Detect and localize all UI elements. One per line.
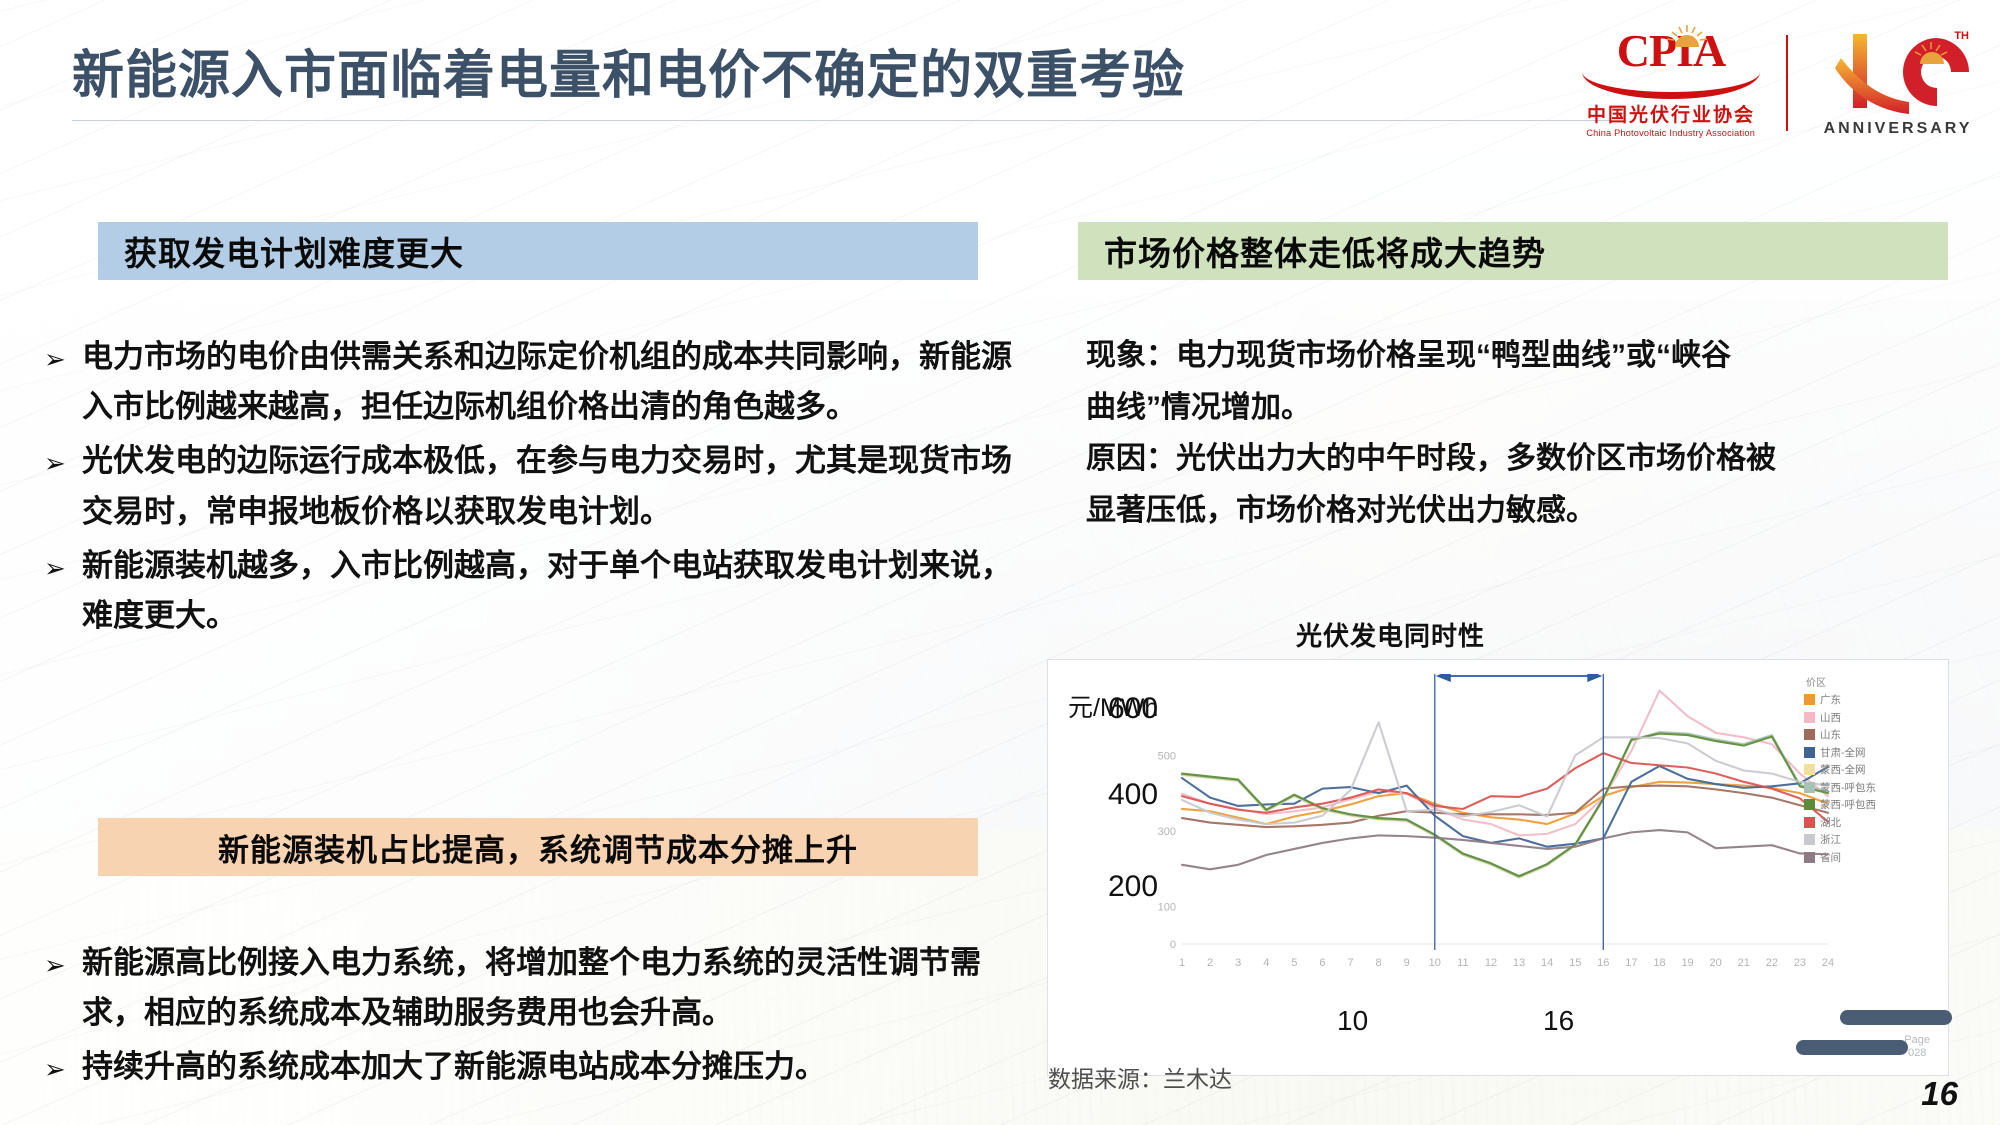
chart-plot-area: 0100300500123456789101112131415161718192… [1140,674,1840,1004]
y-tick-label: 300 [1158,826,1176,838]
left-heading-2: 新能源装机占比提高，系统调节成本分摊上升 [98,818,978,876]
left-heading-1-label: 获取发电计划难度更大 [124,227,464,275]
overlay-x-10: 10 [1337,1005,1368,1037]
anniversary-th: TH [1954,30,1969,42]
x-tick-label: 9 [1404,957,1410,969]
x-tick-label: 3 [1235,957,1241,969]
legend-swatch-icon [1804,747,1815,758]
chevron-right-icon: ➢ [30,541,82,641]
x-tick-label: 18 [1653,957,1665,969]
legend-label: 浙江 [1820,832,1841,847]
x-tick-label: 24 [1822,957,1834,969]
overlay-x-16: 16 [1543,1005,1574,1037]
left-heading-2-label: 新能源装机占比提高，系统调节成本分摊上升 [218,825,858,870]
x-tick-label: 11 [1457,957,1468,969]
legend-item: 浙江 [1804,832,1922,847]
x-tick-label: 17 [1625,957,1637,969]
x-tick-label: 14 [1541,957,1553,969]
ten-anniversary-icon [1823,28,1973,114]
legend-item: 湖北 [1804,815,1922,830]
chart-lines: 0100300500123456789101112131415161718192… [1140,674,1840,1004]
cpia-logo: CPIA 中国光伏行业协会 China Photovoltaic Industr… [1582,28,1760,138]
overlay-y-600: 600 [1108,692,1158,726]
legend-swatch-icon [1804,694,1815,705]
sunburst-icon [1665,25,1709,49]
x-tick-label: 22 [1766,957,1778,969]
list-item: ➢ 光伏发电的边际运行成本极低，在参与电力交易时，尤其是现货市场交易时，常申报地… [30,436,1030,536]
logo-group: CPIA 中国光伏行业协会 China Photovoltaic Industr… [1582,28,1982,138]
list-item-text: 持续升高的系统成本加大了新能源电站成本分摊压力。 [82,1042,1030,1092]
x-tick-label: 21 [1738,957,1750,969]
legend-swatch-icon [1804,712,1815,723]
legend-label: 蒙西-全网 [1820,762,1866,777]
anniversary-mark: TH [1823,28,1973,114]
cpia-arc [1582,72,1760,99]
list-item-text: 光伏发电的边际运行成本极低，在参与电力交易时，尤其是现货市场交易时，常申报地板价… [82,436,1030,536]
list-item: ➢ 电力市场的电价由供需关系和边际定价机组的成本共同影响，新能源入市比例越来越高… [30,332,1030,432]
chevron-right-icon: ➢ [30,1042,82,1092]
right-heading-label: 市场价格整体走低将成大趋势 [1104,227,1546,275]
slide-number: 16 [1921,1075,1958,1113]
paragraph-line: 现象：电力现货市场价格呈现“鸭型曲线”或“峡谷 [1086,330,1966,382]
chart-page-number: 028 [1904,1047,1930,1061]
list-item: ➢ 新能源装机越多，入市比例越高，对于单个电站获取发电计划来说，难度更大。 [30,541,1030,641]
x-tick-label: 19 [1681,957,1693,969]
chart-title: 光伏发电同时性 [1296,616,1485,653]
legend-item: 省间 [1804,850,1922,865]
legend-swatch-icon [1804,782,1815,793]
legend-swatch-icon [1804,729,1815,740]
x-tick-label: 12 [1485,957,1497,969]
series-line [1182,733,1828,878]
legend-item: 蒙西-全网 [1804,762,1922,777]
list-item: ➢ 持续升高的系统成本加大了新能源电站成本分摊压力。 [30,1042,1030,1092]
legend-item: 蒙西-呼包西 [1804,797,1922,812]
list-item-text: 新能源装机越多，入市比例越高，对于单个电站获取发电计划来说，难度更大。 [82,541,1030,641]
series-line [1182,830,1828,869]
legend-swatch-icon [1804,764,1815,775]
legend-item: 甘肃-全网 [1804,745,1922,760]
x-tick-label: 16 [1597,957,1609,969]
overlay-y-400: 400 [1108,778,1158,812]
chart-page-word: Page [1904,1034,1930,1048]
anniversary-logo: TH ANNIVERSARY [1814,28,1982,138]
y-tick-label: 500 [1158,750,1176,762]
chart-legend: 价区 广东山西山东甘肃-全网蒙西-全网蒙西-呼包东蒙西-呼包西湖北浙江省间 [1804,674,1922,867]
decoration-bar-1 [1840,1010,1952,1025]
legend-label: 蒙西-呼包东 [1820,780,1876,795]
x-tick-label: 1 [1179,957,1185,969]
cpia-chinese-name: 中国光伏行业协会 [1587,100,1755,127]
right-heading: 市场价格整体走低将成大趋势 [1078,222,1948,280]
paragraph-line: 显著压低，市场价格对光伏出力敏感。 [1086,485,1966,537]
x-tick-label: 20 [1710,957,1722,969]
x-tick-label: 8 [1376,957,1382,969]
legend-label: 甘肃-全网 [1820,745,1866,760]
legend-item: 蒙西-呼包东 [1804,780,1922,795]
paragraph-line: 曲线”情况增加。 [1086,382,1966,434]
series-line [1182,722,1828,824]
series-line [1182,732,1828,877]
x-tick-label: 2 [1207,957,1213,969]
overlay-y-200: 200 [1108,870,1158,904]
left-bullet-list-2: ➢ 新能源高比例接入电力系统，将增加整个电力系统的灵活性调节需求，相应的系统成本… [30,938,1030,1097]
legend-item: 山西 [1804,710,1922,725]
x-tick-label: 4 [1263,957,1269,969]
series-line [1182,753,1828,822]
legend-swatch-icon [1804,852,1815,863]
logo-divider [1786,35,1788,131]
decoration-bar-2 [1796,1040,1908,1055]
legend-label: 山西 [1820,710,1841,725]
legend-label: 湖北 [1820,815,1841,830]
legend-swatch-icon [1804,799,1815,810]
cpia-english-name: China Photovoltaic Industry Association [1587,128,1756,138]
list-item-text: 电力市场的电价由供需关系和边际定价机组的成本共同影响，新能源入市比例越来越高，担… [82,332,1030,432]
left-heading-1: 获取发电计划难度更大 [98,222,978,280]
x-tick-label: 10 [1429,957,1441,969]
legend-label: 山东 [1820,727,1841,742]
legend-item: 广东 [1804,692,1922,707]
title-divider [72,120,1612,121]
y-tick-label: 100 [1158,901,1176,913]
chart-container: 元/MWh 0100300500123456789101112131415161… [1048,660,1948,1075]
anniversary-label: ANNIVERSARY [1824,120,1973,138]
source-note: 数据来源：兰木达 [1048,1060,1232,1094]
right-paragraph: 现象：电力现货市场价格呈现“鸭型曲线”或“峡谷 曲线”情况增加。 原因：光伏出力… [1086,330,1966,536]
paragraph-line: 原因：光伏出力大的中午时段，多数价区市场价格被 [1086,433,1966,485]
chevron-right-icon: ➢ [30,938,82,1038]
list-item-text: 新能源高比例接入电力系统，将增加整个电力系统的灵活性调节需求，相应的系统成本及辅… [82,938,1030,1038]
legend-swatch-icon [1804,817,1815,828]
legend-label: 省间 [1820,850,1841,865]
list-item: ➢ 新能源高比例接入电力系统，将增加整个电力系统的灵活性调节需求，相应的系统成本… [30,938,1030,1038]
annotation-arrow-head [1436,674,1451,682]
page-title: 新能源入市面临着电量和电价不确定的双重考验 [72,48,1432,105]
x-tick-label: 7 [1347,957,1353,969]
x-tick-label: 13 [1513,957,1525,969]
x-tick-label: 5 [1291,957,1297,969]
y-tick-label: 0 [1170,939,1176,951]
x-tick-label: 23 [1794,957,1806,969]
x-tick-label: 15 [1569,957,1581,969]
annotation-arrow-head [1587,674,1602,682]
legend-item: 山东 [1804,727,1922,742]
chevron-right-icon: ➢ [30,332,82,432]
slide-root: 新能源入市面临着电量和电价不确定的双重考验 CPIA 中国光伏行业协会 Chin… [0,0,2000,1125]
legend-swatch-icon [1804,834,1815,845]
chevron-right-icon: ➢ [30,436,82,536]
legend-label: 蒙西-呼包西 [1820,797,1876,812]
left-bullet-list-1: ➢ 电力市场的电价由供需关系和边际定价机组的成本共同影响，新能源入市比例越来越高… [30,332,1030,645]
x-tick-label: 6 [1319,957,1325,969]
legend-title: 价区 [1804,674,1922,689]
chart-page-label: Page 028 [1904,1034,1930,1062]
legend-label: 广东 [1820,692,1841,707]
